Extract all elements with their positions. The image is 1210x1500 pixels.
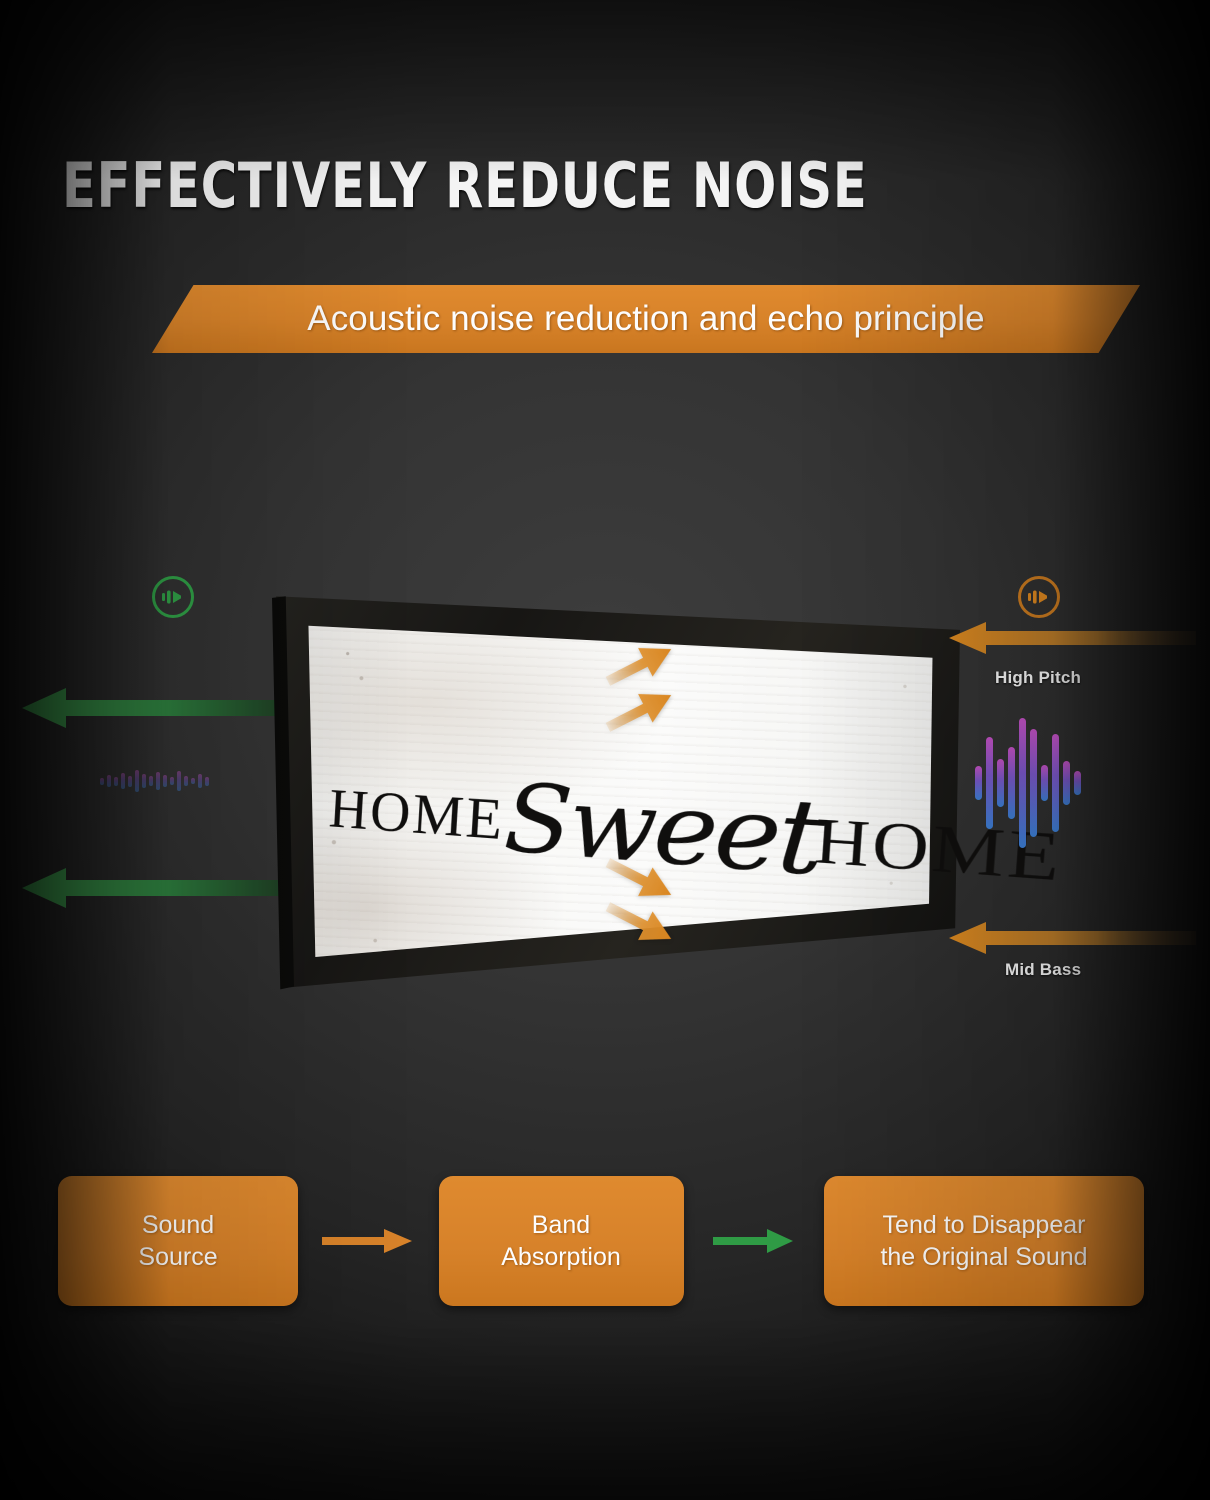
process-flow: Sound Source Band Absorption Tend to Dis… — [58, 1176, 1144, 1306]
waveform-left-bar — [163, 775, 167, 787]
flow-step-disappear: Tend to Disappear the Original Sound — [824, 1176, 1144, 1306]
reduced-sound-arrow-bottom — [18, 866, 288, 910]
flow-connector-2 — [684, 1228, 825, 1254]
waveform-left — [100, 770, 209, 792]
high-pitch-arrow — [946, 620, 1196, 656]
waveform-left-bar — [191, 778, 195, 784]
page-title: EFFECTIVELY REDUCE NOISE — [62, 155, 862, 217]
flow-step-band-absorption: Band Absorption — [439, 1176, 684, 1306]
waveform-right-bar — [1063, 761, 1070, 805]
waveform-left-bar — [170, 777, 174, 785]
flow-step-line2: Source — [138, 1241, 217, 1273]
flow-step-line2: Absorption — [501, 1241, 621, 1273]
waveform-right-bar — [1008, 747, 1015, 819]
waveform-left-bar — [135, 770, 139, 792]
waveform-left-bar — [184, 776, 188, 786]
waveform-right-bar — [986, 737, 993, 829]
label-high-pitch: High Pitch — [995, 668, 1081, 688]
waveform-right-bar — [1019, 718, 1026, 848]
waveform-left-bar — [142, 774, 146, 788]
product-sign: HOME Sweet HOME — [272, 588, 960, 998]
arrow-right-icon — [713, 1228, 795, 1254]
mid-bass-arrow — [946, 920, 1196, 956]
flow-step-line1: Tend to Disappear — [883, 1209, 1086, 1241]
waveform-left-bar — [121, 773, 125, 789]
infographic-page: EFFECTIVELY REDUCE NOISE Acoustic noise … — [0, 0, 1210, 1500]
flow-step-line1: Band — [532, 1209, 590, 1241]
waveform-right-bar — [1074, 771, 1081, 795]
waveform-left-bar — [100, 778, 104, 785]
speaker-icon-left — [152, 576, 194, 618]
waveform-left-bar — [149, 776, 153, 786]
waveform-left-bar — [114, 777, 118, 786]
speaker-glyph — [1028, 589, 1050, 605]
speaker-glyph — [162, 589, 184, 605]
reduced-sound-arrow-top — [18, 686, 288, 730]
waveform-left-bar — [156, 772, 160, 790]
waveform-right-bar — [1030, 729, 1037, 837]
speaker-icon-right — [1018, 576, 1060, 618]
flow-step-sound-source: Sound Source — [58, 1176, 298, 1306]
flow-connector-1 — [298, 1228, 439, 1254]
flow-step-line1: Sound — [142, 1209, 214, 1241]
waveform-right-bar — [997, 759, 1004, 807]
label-mid-bass: Mid Bass — [1005, 960, 1081, 980]
waveform-right-bar — [1041, 765, 1048, 801]
subtitle-banner-label: Acoustic noise reduction and echo princi… — [307, 299, 985, 339]
waveform-left-bar — [107, 775, 111, 787]
waveform-left-bar — [205, 777, 209, 786]
arrow-right-icon — [322, 1228, 414, 1254]
waveform-left-bar — [198, 774, 202, 788]
waveform-right — [975, 718, 1081, 848]
waveform-left-bar — [177, 771, 181, 791]
subtitle-banner: Acoustic noise reduction and echo princi… — [152, 285, 1140, 353]
waveform-right-bar — [1052, 734, 1059, 832]
waveform-right-bar — [975, 766, 982, 800]
waveform-left-bar — [128, 776, 132, 787]
flow-step-line2: the Original Sound — [880, 1241, 1087, 1273]
